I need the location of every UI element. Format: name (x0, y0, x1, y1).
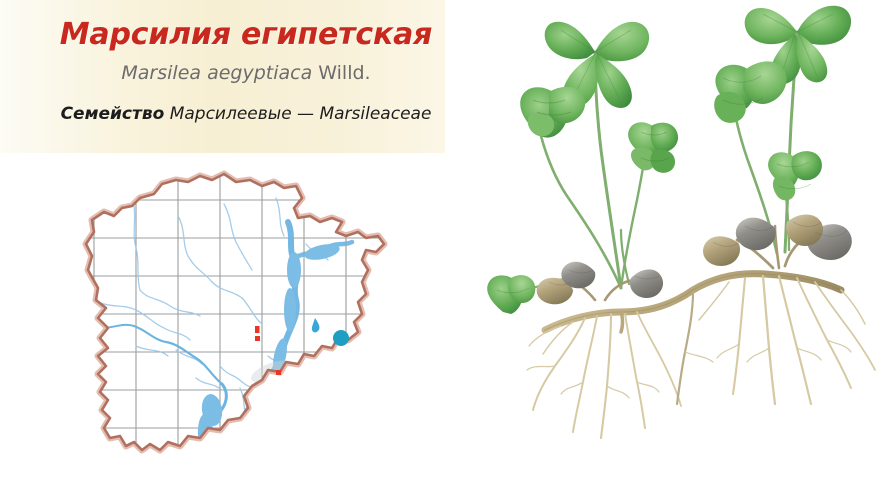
distribution-map (36, 160, 406, 480)
title-block: Марсилия египетская Marsilea aegyptiaca … (0, 0, 520, 153)
record-marker-red-2 (255, 336, 260, 341)
latin-authority: Willd. (318, 62, 370, 84)
latin-name-line: Marsilea aegyptiaca Willd. (0, 62, 492, 84)
family-names: Марсилеевые — Marsileaceae (170, 104, 432, 124)
record-marker-red-1 (255, 326, 260, 333)
record-marker-teal-1 (333, 330, 349, 346)
record-marker-red-3 (276, 370, 281, 375)
species-fact-sheet: Марсилия египетская Marsilea aegyptiaca … (0, 0, 887, 489)
family-line: Семейство Марсилеевые — Marsileaceae (0, 104, 492, 124)
latin-binomial: Marsilea aegyptiaca (121, 62, 312, 84)
marsilea-botanical-illustration (445, 0, 887, 489)
page-title: Марсилия египетская (0, 17, 492, 52)
family-label: Семейство (61, 104, 165, 124)
